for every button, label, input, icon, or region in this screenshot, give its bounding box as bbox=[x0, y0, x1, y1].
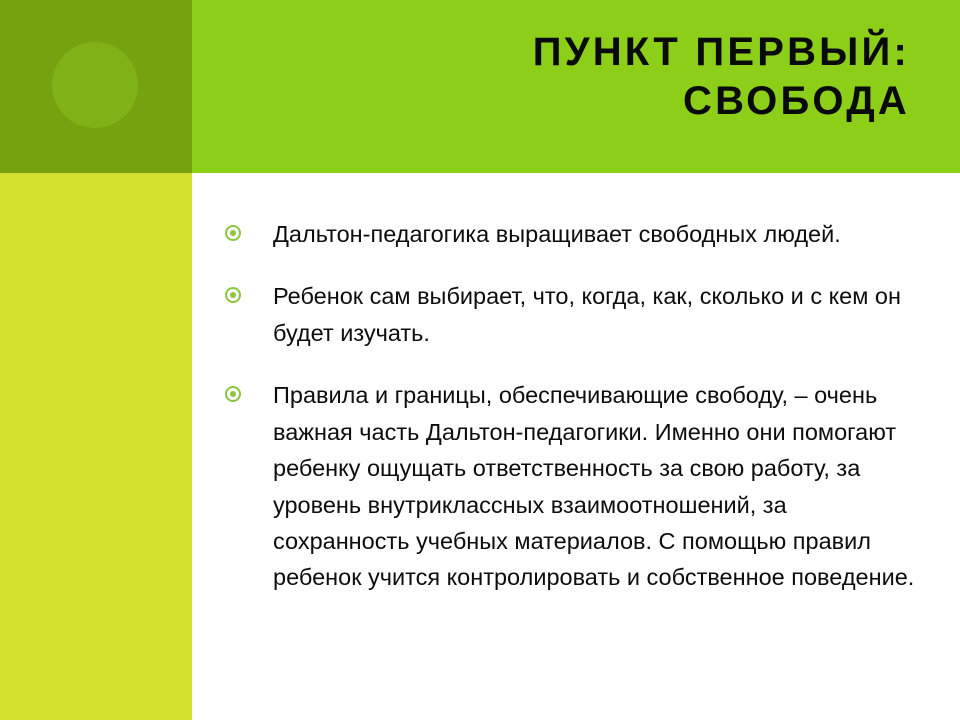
list-item: Правила и границы, обеспечивающие свобод… bbox=[225, 377, 925, 596]
list-item-text-1: Дальтон-педагогика выращивает свободных … bbox=[273, 216, 925, 252]
bullseye-bullet-icon bbox=[225, 225, 241, 241]
bullet-marker-2 bbox=[225, 278, 273, 303]
bullet-marker-3 bbox=[225, 377, 273, 402]
slide-title: ПУНКТ ПЕРВЫЙ: СВОБОДА bbox=[330, 28, 910, 126]
list-item: Ребенок сам выбирает, что, когда, как, с… bbox=[225, 278, 925, 351]
slide-title-line-2: СВОБОДА bbox=[330, 77, 910, 126]
bullet-marker-1 bbox=[225, 216, 273, 241]
list-item-text-3: Правила и границы, обеспечивающие свобод… bbox=[273, 377, 925, 596]
circle-decoration-icon bbox=[52, 42, 138, 128]
bullseye-bullet-icon bbox=[225, 287, 241, 303]
slide-body-content: Дальтон-педагогика выращивает свободных … bbox=[225, 216, 925, 596]
corner-accent-block bbox=[0, 0, 192, 173]
sidebar-accent-band bbox=[0, 173, 192, 720]
list-item-text-2: Ребенок сам выбирает, что, когда, как, с… bbox=[273, 278, 925, 351]
list-item: Дальтон-педагогика выращивает свободных … bbox=[225, 216, 925, 252]
presentation-slide: ПУНКТ ПЕРВЫЙ: СВОБОДА Дальтон-педагогика… bbox=[0, 0, 960, 720]
slide-title-line-1: ПУНКТ ПЕРВЫЙ: bbox=[330, 28, 910, 77]
bullseye-bullet-icon bbox=[225, 386, 241, 402]
